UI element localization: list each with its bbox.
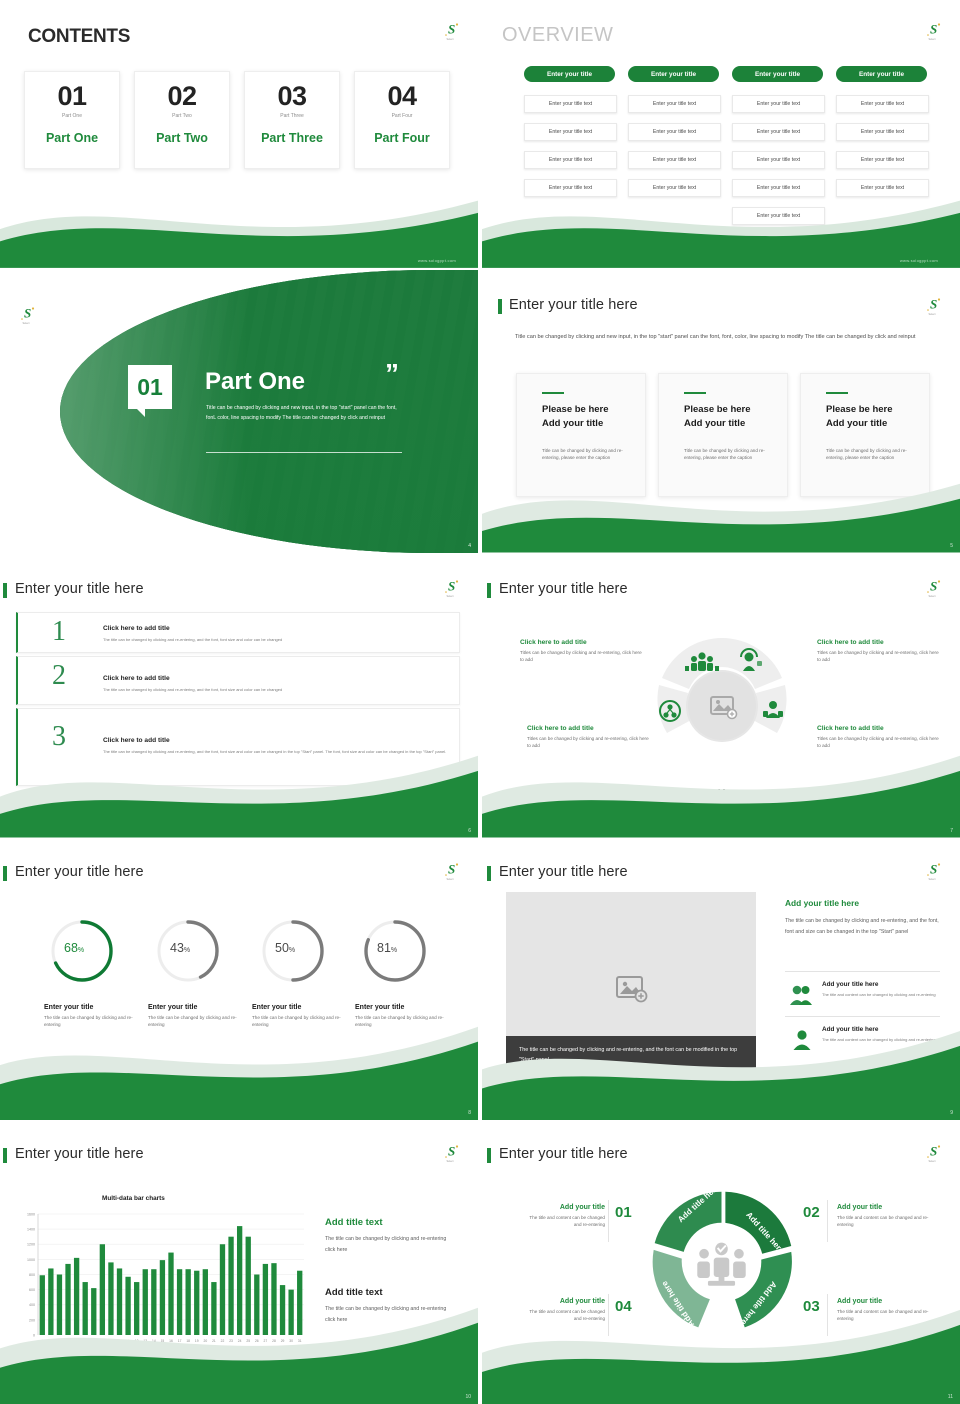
bar[interactable] [160, 1260, 165, 1335]
slide-bar-chart[interactable]: Enter your title here S Select Multi-dat… [0, 1122, 478, 1404]
quadrant-body: The title and content can be changed and… [837, 1308, 945, 1322]
slide-part-one[interactable]: S Select 01 Part One ” Title can be chan… [0, 270, 478, 553]
overview-cell[interactable]: Enter your title text [628, 179, 721, 197]
image-caption: The title can be changed by clicking and… [506, 1036, 756, 1077]
bar[interactable] [83, 1282, 88, 1335]
svg-text:4: 4 [67, 1339, 69, 1343]
chart-text-body-1: The title can be changed by clicking and… [325, 1234, 457, 1256]
page-title: Enter your title here [499, 581, 628, 597]
svg-text:9: 9 [110, 1339, 112, 1343]
segmented-ring-diagram [637, 623, 807, 783]
svg-text:Select: Select [929, 313, 936, 316]
accent-dash-icon [684, 392, 706, 394]
slide-image-text[interactable]: Enter your title here S Select The title… [482, 840, 960, 1120]
cycle-arrow-diagram: Add title here Add title here Add title … [644, 1184, 799, 1339]
segment-body: Titles can be changed by clicking and re… [520, 649, 642, 663]
svg-text:28: 28 [272, 1339, 276, 1343]
s-leaf-logo-icon: S Select [18, 304, 38, 326]
bar[interactable] [271, 1263, 276, 1335]
donut-label-2: Enter your title The title can be change… [148, 1004, 243, 1028]
chart-text-body-2: The title can be changed by clicking and… [325, 1304, 457, 1326]
svg-text:Select: Select [447, 1160, 454, 1163]
list-number: 2 [52, 662, 66, 690]
overview-cell[interactable]: Enter your title text [836, 123, 929, 141]
bar[interactable] [228, 1237, 233, 1335]
bar[interactable] [91, 1288, 96, 1335]
svg-text:30: 30 [289, 1339, 293, 1343]
page-number: 9 [950, 1110, 953, 1116]
svg-text:12: 12 [135, 1339, 139, 1343]
card-title-2: Add your title [542, 418, 603, 431]
wave-decoration [0, 166, 478, 268]
card-title-1: Please be here [684, 404, 751, 417]
bar[interactable] [246, 1237, 251, 1335]
page-number: 11 [948, 1394, 953, 1400]
slide-three-cards[interactable]: Enter your title here S Select Title can… [482, 270, 960, 553]
segment-title: Click here to add title [520, 639, 642, 646]
bar[interactable] [143, 1269, 148, 1335]
svg-text:Select: Select [929, 595, 936, 598]
quadrant-number-1: 01 [615, 1204, 632, 1221]
list-body: The title can be changed by clicking and… [103, 749, 463, 755]
bar[interactable] [48, 1268, 53, 1335]
svg-text:19: 19 [195, 1339, 199, 1343]
bar[interactable] [65, 1264, 70, 1335]
overview-cell[interactable]: Enter your title text [836, 95, 929, 113]
svg-text:S: S [448, 862, 455, 877]
card-subtitle: Part Three [245, 113, 339, 119]
page-title: CONTENTS [28, 26, 130, 48]
card-body: Title can be changed by clicking and re-… [826, 447, 908, 461]
svg-text:1400: 1400 [27, 1228, 35, 1232]
bar-chart[interactable]: 0200400600800100012001400160012345678910… [18, 1210, 308, 1347]
svg-text:23: 23 [229, 1339, 233, 1343]
bar[interactable] [194, 1271, 199, 1335]
bar[interactable] [280, 1285, 285, 1335]
svg-text:S: S [930, 579, 937, 594]
svg-text:14: 14 [152, 1339, 156, 1343]
bar[interactable] [237, 1226, 242, 1335]
segment-title: Click here to add title [527, 725, 649, 732]
s-leaf-logo-icon: S Select [442, 860, 462, 882]
svg-text:400: 400 [29, 1303, 35, 1307]
contents-card-4[interactable]: 04 Part Four Part Four [354, 71, 450, 169]
bar[interactable] [151, 1269, 156, 1335]
card-title: Part Three [245, 131, 339, 145]
s-leaf-logo-icon: S Select [924, 20, 944, 42]
contents-card-3[interactable]: 03 Part Three Part Three [244, 71, 340, 169]
card-title-2: Add your title [684, 418, 745, 431]
s-leaf-logo-icon: S Select [924, 860, 944, 882]
s-leaf-logo-icon: S Select [442, 577, 462, 599]
svg-text:1200: 1200 [27, 1243, 35, 1247]
bar[interactable] [220, 1244, 225, 1335]
feature-card-1[interactable]: Please be here Add your title Title can … [516, 373, 646, 497]
card-subtitle: Part One [25, 113, 119, 119]
page-title: Enter your title here [15, 864, 144, 880]
feature-card-3[interactable]: Please be here Add your title Title can … [800, 373, 930, 497]
quadrant-title: Add your title [837, 1298, 945, 1305]
svg-text:Select: Select [447, 38, 454, 41]
overview-pill-4[interactable]: Enter your title [836, 66, 927, 82]
page-title: OVERVIEW [502, 24, 613, 47]
s-leaf-logo-icon: S Select [924, 295, 944, 317]
bar[interactable] [297, 1271, 302, 1335]
section-number-badge: 01 [128, 365, 172, 409]
bar[interactable] [177, 1269, 182, 1335]
svg-text:1: 1 [41, 1339, 43, 1343]
segment-title: Click here to add title [817, 725, 941, 732]
list-item-1[interactable]: 1 Click here to add title The title can … [16, 612, 460, 653]
page-number: 5 [950, 543, 953, 549]
svg-text:18: 18 [186, 1339, 190, 1343]
card-body: Title can be changed by clicking and re-… [684, 447, 766, 461]
overview-pill-1[interactable]: Enter your title [524, 66, 615, 82]
quadrant-number-2: 02 [803, 1204, 820, 1221]
bar[interactable] [74, 1258, 79, 1335]
svg-text:16: 16 [169, 1339, 173, 1343]
bar[interactable] [134, 1282, 139, 1335]
slide-cycle-diagram[interactable]: Enter your title here S Select [482, 1122, 960, 1404]
list-title: Click here to add title [103, 675, 170, 682]
svg-text:Select: Select [929, 1160, 936, 1163]
card-subtitle: Part Two [135, 113, 229, 119]
svg-text:17: 17 [178, 1339, 182, 1343]
svg-text:S: S [930, 297, 937, 312]
svg-text:S: S [448, 1144, 455, 1159]
list-title: Click here to add title [103, 737, 170, 744]
bullet-title-2: Add your title here [822, 1026, 878, 1033]
donut-value-2: 43% [170, 941, 190, 955]
overview-cell[interactable]: Enter your title text [732, 123, 825, 141]
segment-title: Click here to add title [817, 639, 941, 646]
overview-cell[interactable]: Enter your title text [628, 95, 721, 113]
list-item-3[interactable]: 3 Click here to add title The title can … [16, 708, 460, 786]
svg-text:6: 6 [84, 1339, 86, 1343]
donut-value-4: 81% [377, 941, 397, 955]
segment-item-4[interactable]: Click here to add title Titles can be ch… [817, 725, 941, 749]
svg-text:S: S [930, 862, 937, 877]
segment-body: Titles can be changed by clicking and re… [817, 735, 941, 749]
quadrant-body: The title and content can be changed and… [525, 1214, 605, 1228]
svg-text:S: S [448, 22, 455, 37]
divider [206, 452, 402, 453]
overview-cell[interactable]: Enter your title text [836, 179, 929, 197]
s-leaf-logo-icon: S Select [924, 1142, 944, 1164]
svg-text:5: 5 [76, 1339, 78, 1343]
quote-icon: ” [385, 358, 399, 390]
donut-value-1: 68% [64, 941, 84, 955]
svg-text:S: S [448, 579, 455, 594]
divider [785, 971, 940, 972]
svg-text:2: 2 [50, 1339, 52, 1343]
segment-item-1[interactable]: Click here to add title Titles can be ch… [520, 639, 642, 663]
lead-paragraph: Title can be changed by clicking and new… [515, 332, 927, 343]
page-title: Enter your title here [15, 1146, 144, 1162]
segment-body: Titles can be changed by clicking and re… [817, 649, 941, 663]
overview-cell[interactable]: Enter your title text [524, 123, 617, 141]
overview-cell[interactable]: Enter your title text [628, 151, 721, 169]
accent-dash-icon [542, 392, 564, 394]
divider [785, 1016, 940, 1017]
quadrant-body: The title and content can be changed and… [525, 1308, 605, 1322]
page-title: Enter your title here [499, 1146, 628, 1162]
overview-cell[interactable]: Enter your title text [732, 207, 825, 225]
card-title-1: Please be here [826, 404, 893, 417]
card-title-2: Add your title [826, 418, 887, 431]
accent-dash-icon [826, 392, 848, 394]
list-number: 3 [52, 723, 66, 751]
s-leaf-logo-icon: S Select [442, 20, 462, 42]
bar[interactable] [203, 1269, 208, 1335]
svg-text:Select: Select [929, 38, 936, 41]
list-title: Click here to add title [103, 625, 170, 632]
diagram-caption: Add your title [678, 788, 730, 797]
list-number: 1 [52, 618, 66, 646]
svg-text:S: S [930, 1144, 937, 1159]
card-title: Part Two [135, 131, 229, 145]
overview-cell[interactable]: Enter your title text [628, 123, 721, 141]
s-leaf-logo-icon: S Select [442, 1142, 462, 1164]
svg-text:22: 22 [221, 1339, 225, 1343]
overview-cell[interactable]: Enter your title text [524, 95, 617, 113]
svg-text:26: 26 [255, 1339, 259, 1343]
svg-text:S: S [930, 22, 937, 37]
page-number: 8 [468, 1110, 471, 1116]
svg-text:31: 31 [298, 1339, 302, 1343]
quadrant-number-4: 04 [615, 1298, 632, 1315]
bar[interactable] [263, 1264, 268, 1335]
bar[interactable] [57, 1275, 62, 1336]
slide-contents[interactable]: CONTENTS S Select 01 Part One Part One 0… [0, 0, 478, 268]
page-number: 10 [465, 1394, 471, 1400]
page-title: Enter your title here [499, 864, 628, 880]
svg-text:27: 27 [264, 1339, 268, 1343]
svg-text:13: 13 [143, 1339, 147, 1343]
page-number: 7 [950, 828, 953, 834]
bar[interactable] [254, 1275, 259, 1336]
image-placeholder-icon [614, 974, 650, 1004]
chart-text-title-1: Add title text [325, 1217, 383, 1228]
page-title: Enter your title here [509, 297, 638, 313]
svg-text:29: 29 [281, 1339, 285, 1343]
bar[interactable] [117, 1268, 122, 1335]
bar[interactable] [40, 1275, 45, 1335]
donut-value-3: 50% [275, 941, 295, 955]
one-person-icon [792, 1029, 812, 1051]
svg-text:S: S [24, 306, 31, 321]
list-body: The title can be changed by clicking and… [103, 637, 433, 643]
svg-text:3: 3 [59, 1339, 61, 1343]
quadrant-4[interactable]: Add your title The title and content can… [525, 1298, 605, 1322]
card-body: Title can be changed by clicking and re-… [542, 447, 624, 461]
list-body: The title can be changed by clicking and… [103, 687, 433, 693]
card-number: 04 [355, 83, 449, 110]
card-number: 03 [245, 83, 339, 110]
footer-url: www.sologppt.com [418, 258, 456, 263]
svg-text:600: 600 [29, 1288, 35, 1292]
chart-text-title-2: Add title text [325, 1287, 383, 1298]
section-title: Part One [205, 368, 305, 396]
list-item-2[interactable]: 2 Click here to add title The title can … [16, 656, 460, 705]
bar[interactable] [186, 1269, 191, 1335]
overview-pill-3[interactable]: Enter your title [732, 66, 823, 82]
svg-text:10: 10 [118, 1339, 122, 1343]
svg-text:1600: 1600 [27, 1212, 35, 1216]
svg-text:Select: Select [447, 878, 454, 881]
chart-title: Multi-data bar charts [102, 1195, 165, 1202]
card-title: Part Four [355, 131, 449, 145]
svg-text:8: 8 [101, 1339, 103, 1343]
quadrant-title: Add your title [837, 1204, 945, 1211]
segment-item-2[interactable]: Click here to add title Titles can be ch… [817, 639, 941, 663]
bar[interactable] [288, 1290, 293, 1335]
svg-text:24: 24 [238, 1339, 242, 1343]
bar[interactable] [125, 1277, 130, 1335]
overview-cell[interactable]: Enter your title text [732, 179, 825, 197]
footer-url: www.sologppt.com [900, 258, 938, 263]
donut-label-1: Enter your title The title can be change… [44, 1004, 139, 1028]
svg-text:800: 800 [29, 1273, 35, 1277]
svg-text:200: 200 [29, 1318, 35, 1322]
segment-body: Titles can be changed by clicking and re… [527, 735, 649, 749]
svg-text:1000: 1000 [27, 1258, 35, 1262]
overview-cell[interactable]: Enter your title text [836, 151, 929, 169]
card-number: 01 [25, 83, 119, 110]
page-number: 6 [468, 828, 471, 834]
bullet-body-1: The title and content can be changed by … [822, 992, 942, 998]
svg-text:7: 7 [93, 1339, 95, 1343]
overview-pill-2[interactable]: Enter your title [628, 66, 719, 82]
svg-text:25: 25 [246, 1339, 250, 1343]
donut-label-3: Enter your title The title can be change… [252, 1004, 347, 1028]
svg-text:21: 21 [212, 1339, 216, 1343]
two-people-icon [789, 984, 813, 1006]
bar[interactable] [100, 1244, 105, 1335]
contents-card-1[interactable]: 01 Part One Part One [24, 71, 120, 169]
bar[interactable] [211, 1282, 216, 1335]
slide-deck: CONTENTS S Select 01 Part One Part One 0… [0, 0, 960, 1400]
quadrant-title: Add your title [525, 1298, 605, 1305]
bullet-body-2: The title and content can be changed by … [822, 1037, 942, 1043]
svg-text:Select: Select [23, 322, 30, 325]
overview-cell[interactable]: Enter your title text [732, 95, 825, 113]
bar[interactable] [168, 1253, 173, 1335]
svg-text:Select: Select [929, 878, 936, 881]
slide-donut-stats[interactable]: Enter your title here S Select 68% 43% 5… [0, 840, 478, 1120]
slide-circle-segments[interactable]: Enter your title here S Select [482, 555, 960, 838]
page-number: 4 [468, 543, 471, 549]
slide-overview[interactable]: OVERVIEW S Select Enter your title Enter… [482, 0, 960, 268]
quadrant-number-3: 03 [803, 1298, 820, 1315]
right-title: Add your title here [785, 898, 859, 908]
slide-numbered-list[interactable]: Enter your title here S Select 1 Click h… [0, 555, 478, 838]
overview-cell[interactable]: Enter your title text [524, 179, 617, 197]
quadrant-1[interactable]: Add your title The title and content can… [525, 1204, 605, 1228]
card-number: 02 [135, 83, 229, 110]
svg-text:11: 11 [126, 1339, 130, 1343]
card-title-1: Please be here [542, 404, 609, 417]
s-leaf-logo-icon: S Select [924, 577, 944, 599]
right-body: The title can be changed by clicking and… [785, 916, 940, 938]
quadrant-body: The title and content can be changed and… [837, 1214, 945, 1228]
donut-label-4: Enter your title The title can be change… [355, 1004, 450, 1028]
svg-text:15: 15 [161, 1339, 165, 1343]
svg-text:0: 0 [33, 1333, 35, 1337]
svg-text:20: 20 [203, 1339, 207, 1343]
segment-item-3[interactable]: Click here to add title Titles can be ch… [527, 725, 649, 749]
card-subtitle: Part Four [355, 113, 449, 119]
feature-card-2[interactable]: Please be here Add your title Title can … [658, 373, 788, 497]
section-body: Title can be changed by clicking and new… [206, 404, 402, 423]
overview-cell[interactable]: Enter your title text [524, 151, 617, 169]
quadrant-2[interactable]: Add your title The title and content can… [837, 1204, 945, 1228]
contents-card-2[interactable]: 02 Part Two Part Two [134, 71, 230, 169]
overview-cell[interactable]: Enter your title text [732, 151, 825, 169]
quadrant-3[interactable]: Add your title The title and content can… [837, 1298, 945, 1322]
page-title: Enter your title here [15, 581, 144, 597]
quadrant-title: Add your title [525, 1204, 605, 1211]
svg-text:Select: Select [447, 595, 454, 598]
card-title: Part One [25, 131, 119, 145]
bar[interactable] [108, 1262, 113, 1335]
bullet-title-1: Add your title here [822, 981, 878, 988]
wave-decoration [0, 1014, 478, 1120]
